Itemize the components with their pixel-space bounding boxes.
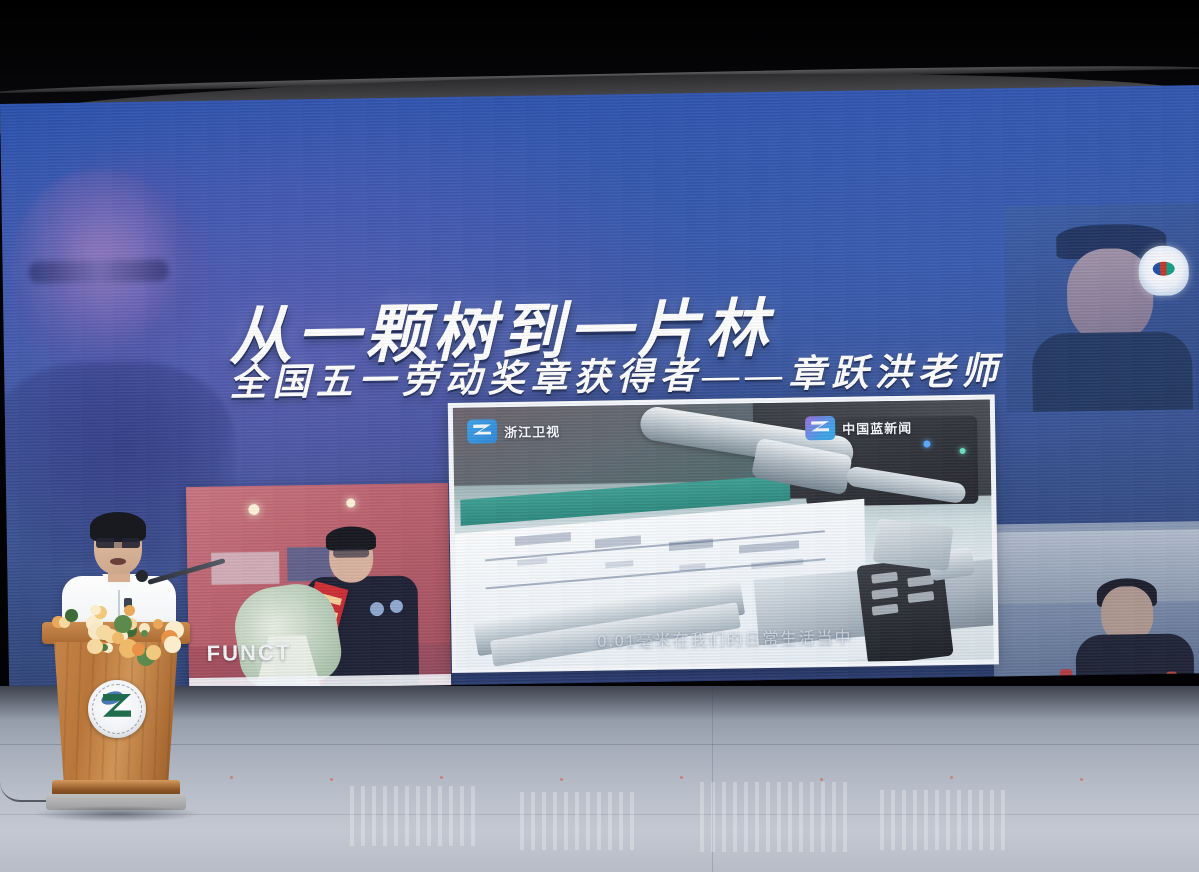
microphone-head — [136, 570, 148, 582]
floor-led-dot-8 — [1080, 778, 1083, 781]
floor-led-dot-1 — [230, 776, 233, 779]
floor-led-dot-2 — [330, 778, 333, 781]
floor-reflection-2 — [520, 792, 640, 850]
floor-led-dot-5 — [680, 776, 683, 779]
worker2-body — [1075, 633, 1195, 692]
micrometer-anvil — [873, 518, 954, 571]
school-crest-icon — [88, 680, 146, 738]
device-led-green — [960, 448, 966, 454]
tv-logo-zhejiang: 浙江卫视 — [467, 418, 560, 443]
flower — [153, 619, 163, 629]
award-photo-inset: FUNCT — [186, 483, 451, 692]
inset-spotlight-1 — [248, 504, 259, 515]
flower — [146, 645, 161, 660]
video-panel: 浙江卫视 中国蓝新闻 0.01毫米在我们的日常生活当中 — [448, 394, 999, 673]
floor-reflection-3 — [700, 782, 850, 852]
flower — [164, 636, 180, 652]
speaker-glasses-icon — [96, 538, 140, 548]
flower — [87, 639, 102, 654]
flower — [141, 630, 148, 637]
speaker-mouth — [110, 558, 126, 565]
floor-reflection-4 — [880, 790, 1010, 850]
inset-spotlight-2 — [346, 498, 355, 507]
device-led-blue — [923, 440, 930, 447]
tv-logo-right-label: 中国蓝新闻 — [842, 417, 912, 437]
background-portrait-glasses — [28, 259, 168, 283]
organization-emblem-icon — [1138, 245, 1189, 296]
workshop-shelf — [992, 529, 1199, 604]
floor-led-dot-3 — [440, 776, 443, 779]
background-worker-photo-bottom — [992, 521, 1199, 692]
awardee-glasses — [333, 548, 369, 558]
floor-led-dot-4 — [560, 778, 563, 781]
podium-shadow — [34, 806, 200, 822]
floor-led-dot-6 — [820, 778, 823, 781]
flower-arrangement — [52, 600, 184, 660]
flower — [124, 605, 135, 616]
inset-overlay-text: FUNCT — [206, 639, 291, 666]
flower — [65, 609, 78, 622]
video-frame: 浙江卫视 中国蓝新闻 0.01毫米在我们的日常生活当中 — [453, 399, 994, 667]
floor-reflection-1 — [350, 786, 480, 846]
tv-logo-left-label: 浙江卫视 — [504, 421, 560, 441]
stage-scene: 从一颗树到一片林 全国五一劳动奖章获得者——章跃洪老师 “99分就是不及格品” … — [0, 0, 1199, 872]
flower — [90, 605, 100, 615]
china-blue-news-icon — [805, 416, 835, 440]
awardee-hair — [326, 526, 376, 551]
zhejiang-tv-icon — [467, 419, 497, 443]
tv-logo-china-blue: 中国蓝新闻 — [805, 415, 912, 441]
floor-led-dot-7 — [950, 776, 953, 779]
inset-panel-a — [211, 552, 279, 585]
